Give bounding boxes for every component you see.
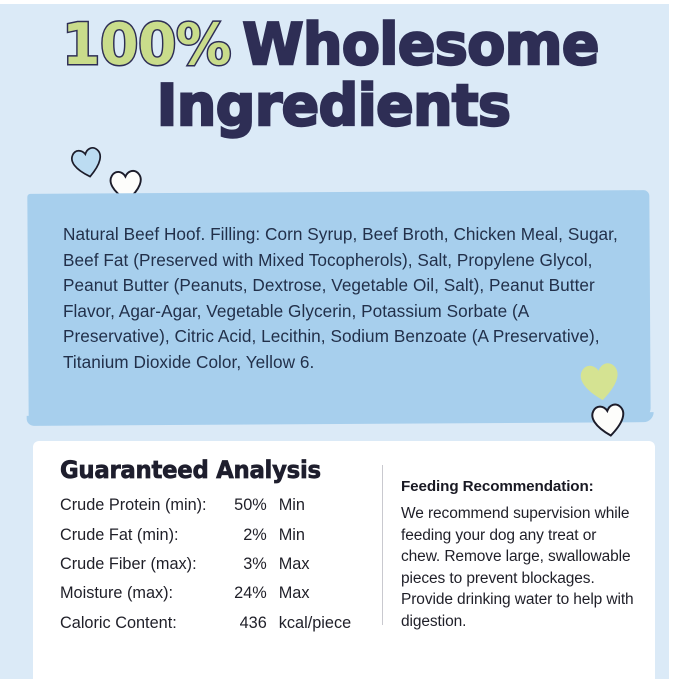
title-line-one: 100%Wholesome xyxy=(62,18,625,73)
product-label-graphic: 100%Wholesome Ingredients Natural Beef H… xyxy=(0,0,679,679)
nutrient-label: Crude Fat (min): xyxy=(60,520,222,549)
feeding-recommendation-heading: Feeding Recommendation: xyxy=(401,478,594,495)
nutrient-unit: Max xyxy=(267,579,360,608)
title-percent: 100% xyxy=(62,12,231,78)
nutrient-label: Caloric Content: xyxy=(60,609,222,638)
nutrient-unit: Min xyxy=(267,491,360,520)
nutrient-unit: Max xyxy=(267,550,360,579)
title-line-two: Ingredients xyxy=(62,79,605,134)
table-row: Caloric Content: 436 kcal/piece xyxy=(60,609,360,638)
nutrient-value: 3% xyxy=(222,550,267,579)
info-card: Guaranteed Analysis Crude Protein (min):… xyxy=(33,441,655,679)
nutrient-value: 24% xyxy=(222,579,267,608)
nutrient-unit: Min xyxy=(267,520,360,549)
ingredients-text: Natural Beef Hoof. Filling: Corn Syrup, … xyxy=(63,222,619,376)
nutrient-label: Crude Fiber (max): xyxy=(60,550,222,579)
title-wholesome: Wholesome xyxy=(243,12,599,78)
table-row: Crude Fiber (max): 3% Max xyxy=(60,550,360,579)
nutrient-unit: kcal/piece xyxy=(267,609,360,638)
guaranteed-analysis-heading: Guaranteed Analysis xyxy=(60,456,321,484)
nutrient-value: 2% xyxy=(222,520,267,549)
nutrient-value: 50% xyxy=(222,491,267,520)
table-row: Moisture (max): 24% Max xyxy=(60,579,360,608)
table-row: Crude Fat (min): 2% Min xyxy=(60,520,360,549)
guaranteed-analysis-table: Crude Protein (min): 50% Min Crude Fat (… xyxy=(60,491,360,638)
column-divider xyxy=(382,465,383,625)
feeding-recommendation-body: We recommend supervision while feeding y… xyxy=(401,503,635,632)
nutrient-label: Moisture (max): xyxy=(60,579,222,608)
nutrient-label: Crude Protein (min): xyxy=(60,491,222,520)
page-title: 100%Wholesome Ingredients xyxy=(62,18,642,135)
table-row: Crude Protein (min): 50% Min xyxy=(60,491,360,520)
nutrient-value: 436 xyxy=(222,609,267,638)
